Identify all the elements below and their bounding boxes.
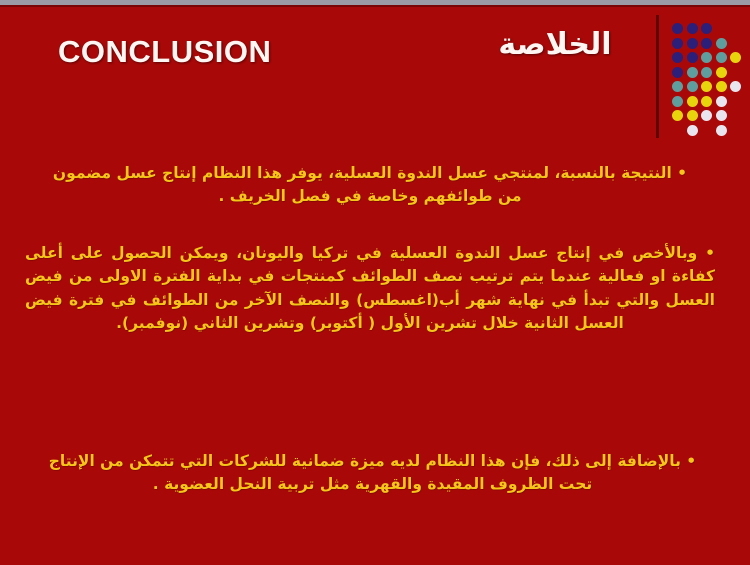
logo-dot	[672, 110, 683, 121]
logo-dot	[716, 96, 727, 107]
logo-dot	[716, 67, 727, 78]
logo-dot	[687, 23, 698, 34]
logo-dot	[672, 81, 683, 92]
logo-dot	[716, 38, 727, 49]
body-paragraph-3: • بالإضافة إلى ذلك، فإن هذا النظام لديه …	[40, 450, 705, 497]
logo-dot	[701, 110, 712, 121]
slide-canvas: CONCLUSION الخلاصة • النتيجة بالنسبة، لم…	[0, 0, 750, 565]
logo-dot	[701, 96, 712, 107]
logo-dot	[672, 96, 683, 107]
dot-matrix-logo-icon	[672, 23, 744, 139]
logo-dot	[687, 38, 698, 49]
logo-dot	[701, 81, 712, 92]
logo-dot	[716, 52, 727, 63]
slide-header: CONCLUSION الخلاصة	[0, 7, 750, 142]
page-title-arabic: الخلاصة	[470, 27, 640, 62]
logo-dot	[716, 110, 727, 121]
body-paragraph-2: • وبالأخص في إنتاج عسل الندوة العسلية في…	[25, 242, 715, 335]
logo-dot	[701, 52, 712, 63]
logo-dot	[701, 67, 712, 78]
logo-dot	[716, 125, 727, 136]
slide-body: • النتيجة بالنسبة، لمنتجي عسل الندوة الع…	[0, 150, 750, 565]
logo-dot	[687, 81, 698, 92]
logo-dot	[687, 67, 698, 78]
logo-dot	[687, 125, 698, 136]
logo-dot	[672, 38, 683, 49]
page-title-english: CONCLUSION	[58, 34, 271, 70]
logo-dot	[672, 67, 683, 78]
logo-dot	[730, 52, 741, 63]
logo-dot	[701, 23, 712, 34]
header-vertical-divider	[656, 15, 659, 138]
body-paragraph-1: • النتيجة بالنسبة، لمنتجي عسل الندوة الع…	[40, 162, 700, 209]
logo-dot	[672, 23, 683, 34]
logo-dot	[687, 110, 698, 121]
logo-dot	[687, 52, 698, 63]
logo-dot	[672, 52, 683, 63]
logo-dot	[701, 38, 712, 49]
logo-dot	[730, 81, 741, 92]
logo-dot	[687, 96, 698, 107]
logo-dot	[716, 81, 727, 92]
